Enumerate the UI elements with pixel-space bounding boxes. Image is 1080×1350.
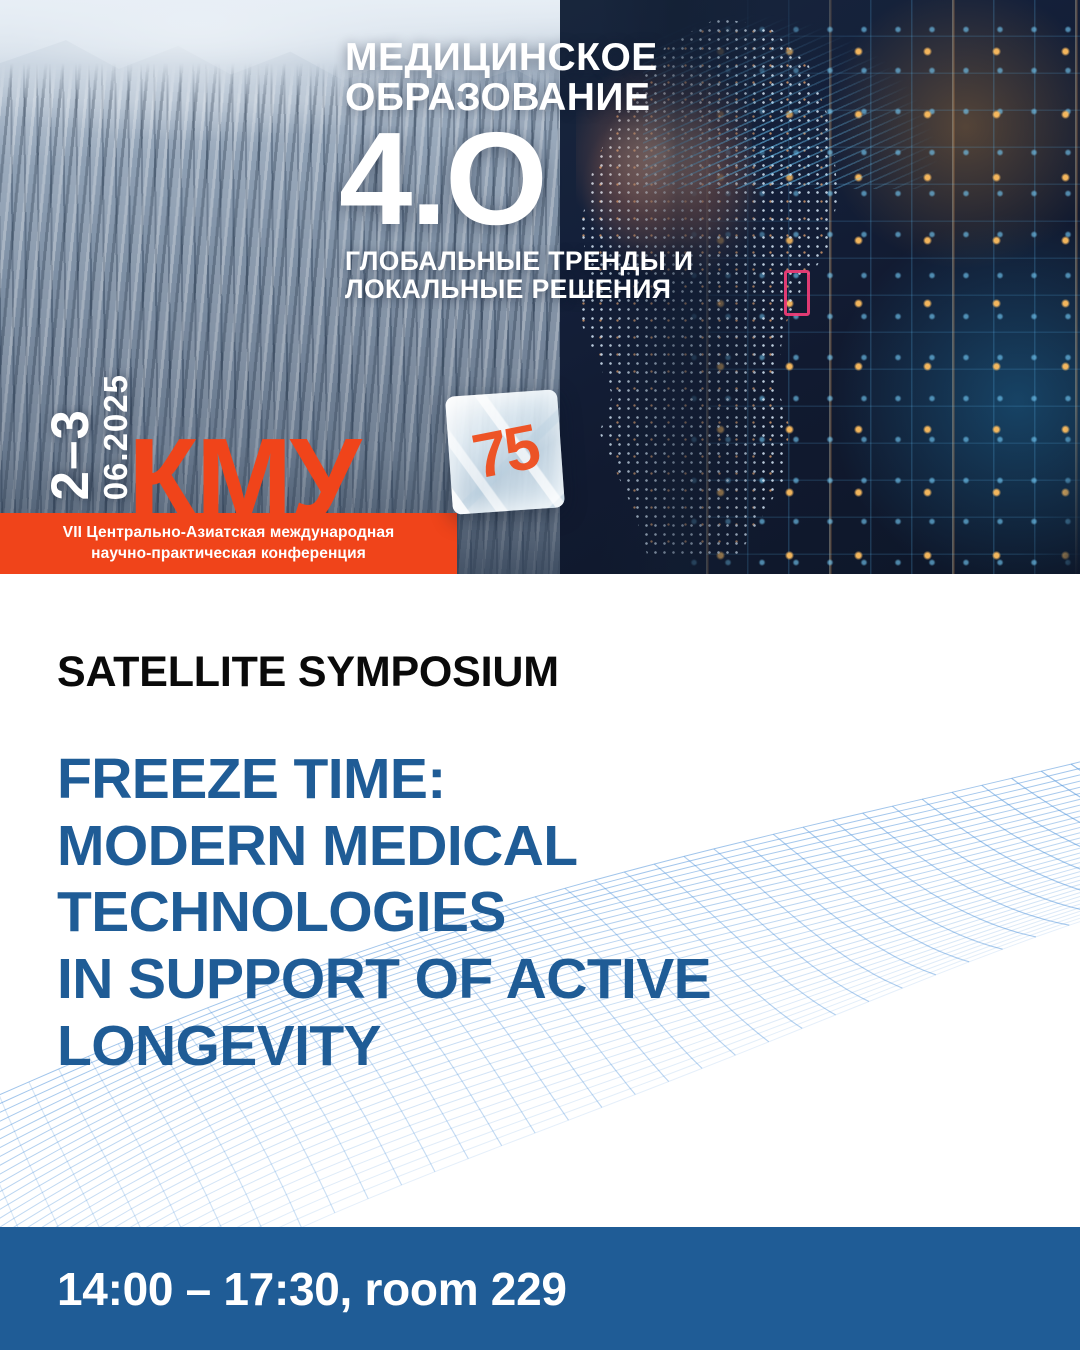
hero-banner: МЕДИЦИНСКОЕ ОБРАЗОВАНИЕ 4.O ГЛОБАЛЬНЫЕ Т… (0, 0, 1080, 574)
session-eyebrow: SATELLITE SYMPOSIUM (57, 648, 559, 697)
hero-headline-block: МЕДИЦИНСКОЕ ОБРАЗОВАНИЕ 4.O ГЛОБАЛЬНЫЕ Т… (345, 38, 745, 304)
conference-subtitle-bar: VII Центрально-Азиатская международная н… (0, 513, 457, 574)
pink-rectangle-icon (784, 270, 810, 316)
conference-subtitle-line-1: VII Центрально-Азиатская международная (63, 523, 394, 543)
session-title: FREEZE TIME: MODERN MEDICAL TECHNOLOGIES… (57, 746, 937, 1079)
conference-subtitle: VII Центрально-Азиатская международная н… (51, 523, 406, 563)
event-date-block: 2–3 06.2025 (44, 372, 132, 500)
session-details-section: SATELLITE SYMPOSIUM FREEZE TIME: MODERN … (0, 574, 1080, 1227)
session-title-line-1: FREEZE TIME: (57, 746, 937, 813)
hero-kicker-line-1: МЕДИЦИНСКОЕ (345, 38, 745, 78)
anniversary-number: 75 (467, 411, 544, 494)
session-title-line-4: IN SUPPORT OF ACTIVE (57, 946, 937, 1013)
session-title-line-3: TECHNOLOGIES (57, 879, 937, 946)
conference-poster: МЕДИЦИНСКОЕ ОБРАЗОВАНИЕ 4.O ГЛОБАЛЬНЫЕ Т… (0, 0, 1080, 1350)
session-title-line-5: LONGEVITY (57, 1013, 937, 1080)
hero-tagline-line-1: ГЛОБАЛЬНЫЕ ТРЕНДЫ И (345, 247, 745, 275)
conference-subtitle-line-2: научно-практическая конференция (63, 544, 394, 564)
schedule-footer-bar: 14:00 – 17:30, room 229 (0, 1227, 1080, 1350)
event-date-range: 2–3 (44, 409, 97, 500)
schedule-text: 14:00 – 17:30, room 229 (0, 1262, 567, 1316)
ice-cube-anniversary-badge: 75 (445, 389, 565, 515)
session-title-line-2: MODERN MEDICAL (57, 813, 937, 880)
hero-tagline-line-2: ЛОКАЛЬНЫЕ РЕШЕНИЯ (345, 275, 745, 303)
hero-version-number: 4.O (339, 122, 745, 236)
hero-tagline: ГЛОБАЛЬНЫЕ ТРЕНДЫ И ЛОКАЛЬНЫЕ РЕШЕНИЯ (345, 247, 745, 304)
